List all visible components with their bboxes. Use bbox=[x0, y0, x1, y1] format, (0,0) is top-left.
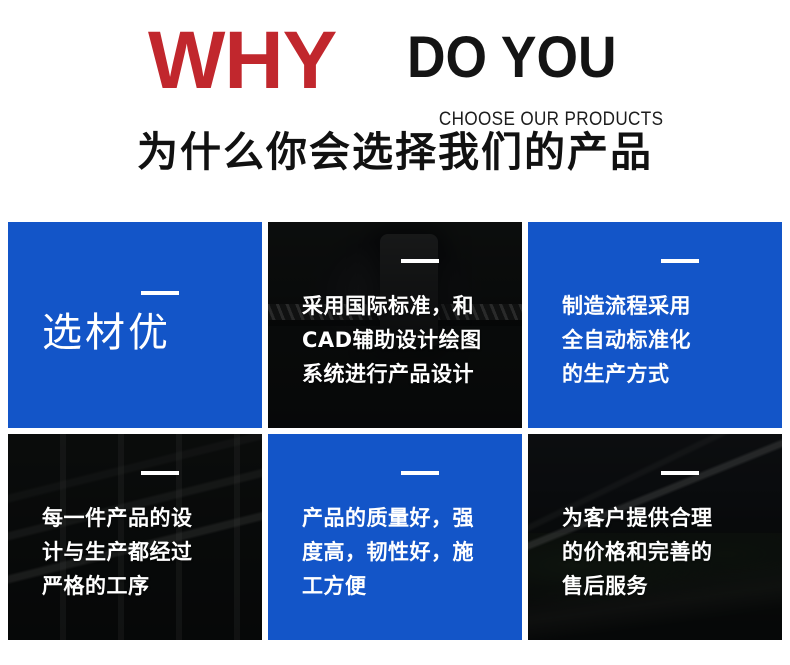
divider-dash-icon bbox=[401, 471, 439, 475]
feature-card-material-selection[interactable]: 选材优 bbox=[8, 222, 262, 428]
feature-card-text: 产品的质量好，强 度高，韧性好，施 工方便 bbox=[302, 501, 522, 603]
headline-row: WHY DO YOU CHOOSE OUR PRODUCTS bbox=[0, 18, 790, 106]
feature-card-international-standard-cad[interactable]: 采用国际标准，和 CAD辅助设计绘图 系统进行产品设计 bbox=[268, 222, 522, 428]
feature-card-quality-strength[interactable]: 产品的质量好，强 度高，韧性好，施 工方便 bbox=[268, 434, 522, 640]
feature-card-content: 选材优 bbox=[8, 291, 262, 359]
feature-card-strict-process[interactable]: 每一件产品的设 计与生产都经过 严格的工序 bbox=[8, 434, 262, 640]
divider-dash-icon bbox=[141, 471, 179, 475]
feature-card-text: 制造流程采用 全自动标准化 的生产方式 bbox=[562, 289, 782, 391]
divider-dash-icon bbox=[141, 291, 179, 295]
feature-card-content: 每一件产品的设 计与生产都经过 严格的工序 bbox=[8, 471, 262, 603]
feature-card-text: 为客户提供合理 的价格和完善的 售后服务 bbox=[562, 501, 782, 603]
headline-primary: WHY bbox=[148, 18, 336, 104]
headline-secondary: DO YOU bbox=[407, 27, 617, 89]
divider-dash-icon bbox=[401, 259, 439, 263]
promo-header: WHY DO YOU CHOOSE OUR PRODUCTS 为什么你会选择我们… bbox=[0, 0, 790, 205]
feature-card-text: 选材优 bbox=[42, 307, 262, 359]
feature-card-automated-manufacturing[interactable]: 制造流程采用 全自动标准化 的生产方式 bbox=[528, 222, 782, 428]
divider-dash-icon bbox=[661, 471, 699, 475]
headline-subtitle-chinese: 为什么你会选择我们的产品 bbox=[0, 127, 790, 177]
feature-grid: 选材优 采用国际标准，和 CAD辅助设计绘图 系统进行产品设计 制造流程采用 全… bbox=[8, 222, 782, 640]
feature-card-price-and-service[interactable]: 为客户提供合理 的价格和完善的 售后服务 bbox=[528, 434, 782, 640]
feature-card-content: 产品的质量好，强 度高，韧性好，施 工方便 bbox=[268, 471, 522, 603]
feature-card-content: 为客户提供合理 的价格和完善的 售后服务 bbox=[528, 471, 782, 603]
feature-card-content: 制造流程采用 全自动标准化 的生产方式 bbox=[528, 259, 782, 391]
feature-card-text: 采用国际标准，和 CAD辅助设计绘图 系统进行产品设计 bbox=[302, 289, 522, 391]
divider-dash-icon bbox=[661, 259, 699, 263]
feature-card-content: 采用国际标准，和 CAD辅助设计绘图 系统进行产品设计 bbox=[268, 259, 522, 391]
feature-card-text: 每一件产品的设 计与生产都经过 严格的工序 bbox=[42, 501, 262, 603]
